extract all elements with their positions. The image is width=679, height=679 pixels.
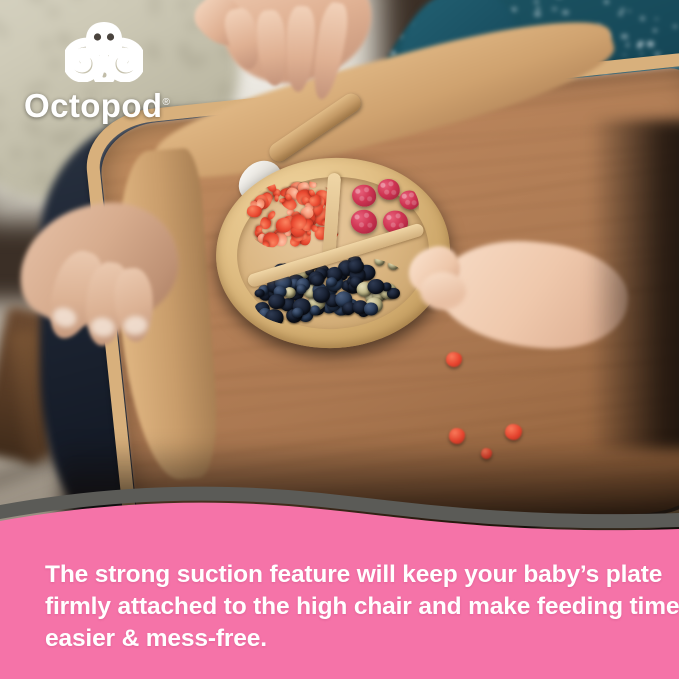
blueberry (374, 256, 385, 266)
blueberry (364, 302, 378, 315)
baby-finger (420, 272, 466, 310)
tray-shadow (590, 120, 679, 450)
banner-line-2: firmly attached to the high chair and ma… (45, 591, 639, 623)
strawberry-piece (290, 214, 306, 230)
brand-logo: Octopod® (24, 20, 214, 120)
banner-text: The strong suction feature will keep you… (45, 559, 639, 655)
fingernail (50, 305, 79, 330)
blueberry (388, 259, 400, 270)
raspberry (350, 209, 378, 235)
blueberry (312, 286, 330, 303)
banner-line-3: easier & mess-free. (45, 623, 639, 655)
registered-mark: ® (162, 97, 169, 108)
octopus-logo-icon (65, 20, 143, 82)
raspberry (398, 190, 419, 210)
product-image-canvas: The strong suction feature will keep you… (0, 0, 679, 679)
strawberry-piece (274, 195, 278, 202)
strawberry-piece (247, 205, 263, 217)
blueberry (255, 288, 265, 297)
blueberry (291, 307, 303, 318)
banner-line-1: The strong suction feature will keep you… (45, 559, 639, 591)
raspberry (351, 184, 376, 208)
brand-name: Octopod (24, 87, 162, 124)
brand-wordmark: Octopod® (24, 86, 214, 123)
fingernail (90, 316, 116, 338)
raspberry (377, 179, 400, 201)
fingernail (123, 315, 148, 336)
strawberry-piece (266, 210, 277, 222)
strawberry-piece (253, 184, 262, 191)
